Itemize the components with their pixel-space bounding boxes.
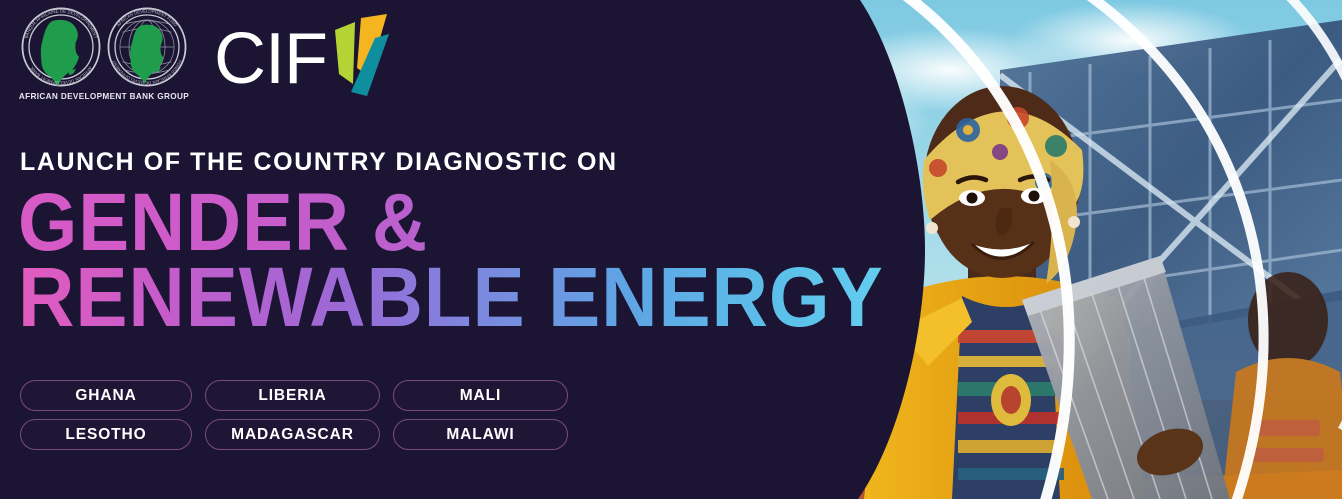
country-pill-row-2: LESOTHO MADAGASCAR MALAWI bbox=[20, 419, 568, 450]
logo-row: BANQUE AFRICAINE DE DEVELOPPEMENT AFRICA… bbox=[18, 6, 393, 106]
banner-content: BANQUE AFRICAINE DE DEVELOPPEMENT AFRICA… bbox=[0, 0, 780, 499]
main-headline: GENDER & RENEWABLE ENERGY bbox=[18, 186, 949, 335]
headline-line-2: RENEWABLE ENERGY bbox=[18, 260, 884, 336]
country-pill-ghana[interactable]: GHANA bbox=[20, 380, 192, 411]
afdb-caption: AFRICAN DEVELOPMENT BANK GROUP bbox=[19, 92, 189, 101]
country-pill-row-1: GHANA LIBERIA MALI bbox=[20, 380, 568, 411]
country-pill-liberia[interactable]: LIBERIA bbox=[205, 380, 380, 411]
country-pill-mali[interactable]: MALI bbox=[393, 380, 568, 411]
afdb-seal-africa-icon: BANQUE AFRICAINE DE DEVELOPPEMENT AFRICA… bbox=[20, 6, 102, 88]
afdb-seal-globe-icon: AFRICAN DEVELOPMENT FUND FONDS AFRICAIN … bbox=[106, 6, 188, 88]
cif-logo: CIF bbox=[214, 12, 393, 106]
afdb-emblems: BANQUE AFRICAINE DE DEVELOPPEMENT AFRICA… bbox=[20, 6, 188, 88]
headline-line-1: GENDER & bbox=[18, 186, 884, 260]
country-pill-malawi[interactable]: MALAWI bbox=[393, 419, 568, 450]
event-banner: BANQUE AFRICAINE DE DEVELOPPEMENT AFRICA… bbox=[0, 0, 1342, 499]
country-pill-madagascar[interactable]: MADAGASCAR bbox=[205, 419, 380, 450]
afdb-logo: BANQUE AFRICAINE DE DEVELOPPEMENT AFRICA… bbox=[18, 6, 190, 101]
country-pills: GHANA LIBERIA MALI LESOTHO MADAGASCAR MA… bbox=[20, 380, 568, 458]
cif-chevron-mark-icon bbox=[331, 12, 393, 100]
cif-wordmark: CIF bbox=[214, 25, 327, 93]
eyebrow-text: LAUNCH OF THE COUNTRY DIAGNOSTIC ON bbox=[20, 148, 618, 177]
country-pill-lesotho[interactable]: LESOTHO bbox=[20, 419, 192, 450]
